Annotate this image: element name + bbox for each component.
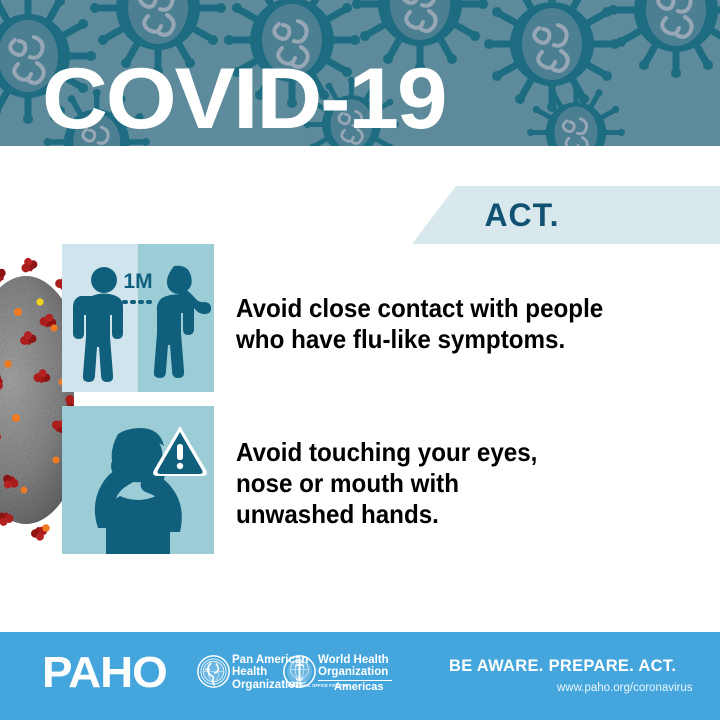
- footer-bar: PAHO Pan American Health Organization: [0, 632, 720, 720]
- icon-panel-avoid-face-touch: [62, 406, 214, 554]
- message-text-2: Avoid touching your eyes, nose or mouth …: [236, 437, 645, 530]
- distance-label: 1M: [123, 270, 152, 293]
- who-americas-label: Americas: [334, 681, 384, 693]
- person-coughing-figure: [154, 266, 211, 378]
- covid-infographic-poster: COVID-19 ACT.: [0, 0, 720, 720]
- person-standing-figure: [73, 267, 123, 382]
- icon-panel-social-distance: 1M: [62, 244, 214, 392]
- message-text-1: Avoid close contact with people who have…: [236, 293, 645, 355]
- social-distance-icon: 1M: [62, 244, 214, 392]
- act-banner: ACT.: [412, 186, 720, 244]
- page-title: COVID-19: [42, 56, 446, 142]
- pan-american-health-organization-emblem: [197, 655, 230, 688]
- paho-wordmark: PAHO: [42, 651, 167, 695]
- footer-url[interactable]: www.paho.org/coronavirus: [557, 682, 693, 694]
- footer-tagline: BE AWARE. PREPARE. ACT.: [449, 657, 676, 676]
- avoid-face-touch-icon: [62, 406, 214, 554]
- world-health-label: World Health Organization: [318, 654, 389, 679]
- act-banner-label: ACT.: [484, 197, 647, 234]
- header-band: COVID-19: [0, 0, 720, 146]
